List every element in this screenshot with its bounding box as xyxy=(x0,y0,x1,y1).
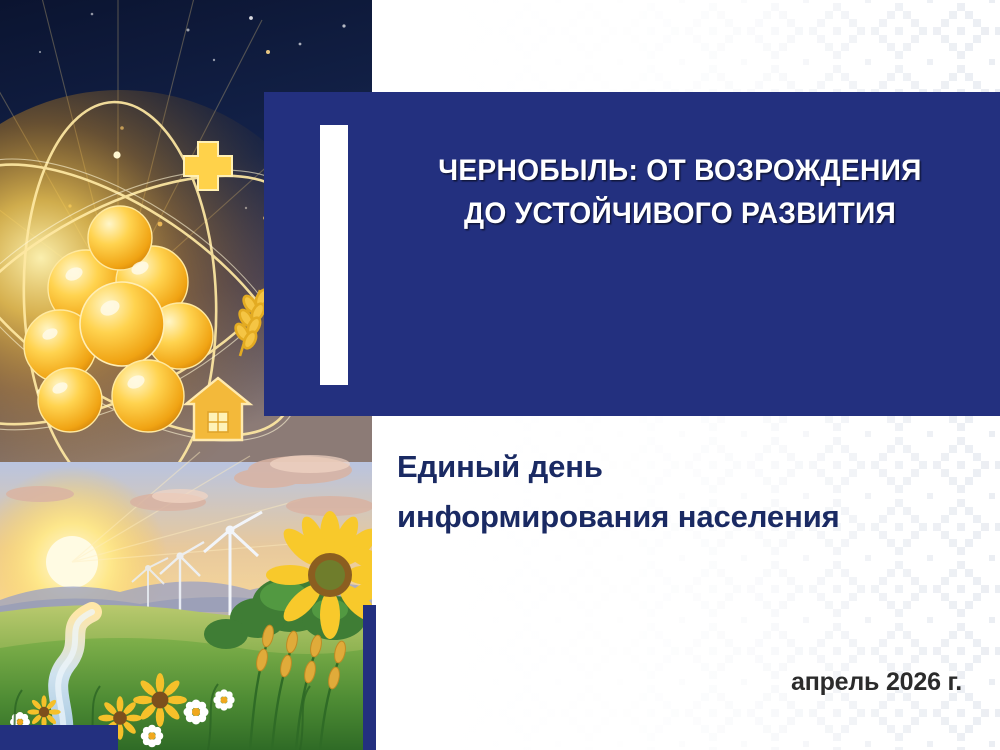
page-title-line-2: ДО УСТОЙЧИВОГО РАЗВИТИЯ xyxy=(398,193,962,236)
title-slide: ЧЕРНОБЫЛЬ: ОТ ВОЗРОЖДЕНИЯ ДО УСТОЙЧИВОГО… xyxy=(0,0,1000,750)
blue-vertical-accent xyxy=(363,605,376,750)
blue-bottom-left-accent xyxy=(0,725,118,750)
date-label: апрель 2026 г. xyxy=(791,668,962,697)
page-subtitle: Единый день информирования населения xyxy=(397,442,967,542)
page-subtitle-line-1: Единый день xyxy=(397,442,967,492)
sunflower-icon xyxy=(27,695,60,728)
page-title: ЧЕРНОБЫЛЬ: ОТ ВОЗРОЖДЕНИЯ ДО УСТОЙЧИВОГО… xyxy=(398,150,962,235)
page-subtitle-line-2: информирования населения xyxy=(397,492,967,542)
page-title-line-1: ЧЕРНОБЫЛЬ: ОТ ВОЗРОЖДЕНИЯ xyxy=(398,150,962,193)
title-banner: ЧЕРНОБЫЛЬ: ОТ ВОЗРОЖДЕНИЯ ДО УСТОЙЧИВОГО… xyxy=(264,92,1000,416)
title-accent-bar xyxy=(320,125,348,385)
